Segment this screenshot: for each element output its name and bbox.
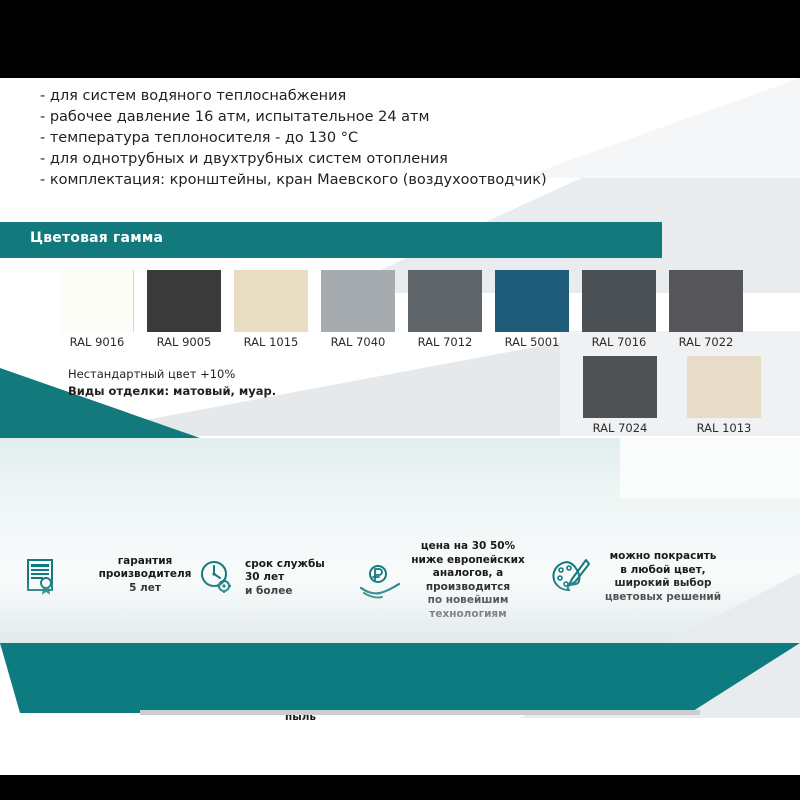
spec-bullet: - рабочее давление 16 атм, испытательное… <box>40 107 660 128</box>
color-swatch[interactable]: RAL 5001 <box>495 270 572 349</box>
color-swatch-label: RAL 7024 <box>580 421 660 435</box>
color-swatch[interactable]: RAL 7012 <box>408 270 485 349</box>
benefit-text-line: ниже европейских <box>408 554 528 568</box>
color-swatch-chip <box>583 356 657 418</box>
color-swatch-label: RAL 7040 <box>318 335 398 349</box>
color-swatch-chip <box>60 270 134 332</box>
spec-bullet: - для однотрубных и двухтрубных систем о… <box>40 149 660 170</box>
color-swatch-chip <box>687 356 761 418</box>
color-swatch-label: RAL 9005 <box>144 335 224 349</box>
slide-page: - для систем водяного теплоснабжения - р… <box>0 0 800 800</box>
color-swatch-label: RAL 7022 <box>666 335 746 349</box>
decorative-band-shadow <box>140 710 700 715</box>
palette-banner-title: Цветовая гамма <box>30 230 163 246</box>
benefit-text-line: срок службы <box>245 558 345 572</box>
palette-note-line2: Виды отделки: матовый, муар. <box>68 383 276 400</box>
spec-bullet: - температура теплоносителя - до 130 °C <box>40 128 660 149</box>
spec-bullet: - для систем водяного теплоснабжения <box>40 86 660 107</box>
color-swatch-label: RAL 7012 <box>405 335 485 349</box>
color-swatch[interactable]: RAL 1015 <box>234 270 311 349</box>
color-swatch-chip <box>408 270 482 332</box>
color-swatch[interactable]: RAL 9016 <box>60 270 137 349</box>
color-swatch[interactable]: RAL 9005 <box>147 270 224 349</box>
color-swatch-label: RAL 1015 <box>231 335 311 349</box>
color-swatch[interactable]: RAL 7024 <box>583 356 660 435</box>
color-swatch-chip <box>234 270 308 332</box>
color-swatch[interactable]: RAL 7016 <box>582 270 659 349</box>
benefit-text-line: можно покрасить <box>598 550 728 564</box>
color-swatch-chip <box>582 270 656 332</box>
benefit-text-line: цена на 30 50% <box>408 540 528 554</box>
color-swatch[interactable]: RAL 1013 <box>687 356 764 435</box>
spec-bullet-list: - для систем водяного теплоснабжения - р… <box>40 86 660 191</box>
color-swatch-label: RAL 7016 <box>579 335 659 349</box>
benefits-panel-highlight <box>620 438 800 498</box>
color-swatch[interactable]: RAL 7040 <box>321 270 398 349</box>
color-swatch-chip <box>321 270 395 332</box>
spec-bullet: - комплектация: кронштейны, кран Маевско… <box>40 170 660 191</box>
color-swatch-label: RAL 1013 <box>684 421 764 435</box>
color-swatch[interactable]: RAL 7022 <box>669 270 746 349</box>
benefit-text-line: в любой цвет, <box>598 564 728 578</box>
color-swatch-label: RAL 9016 <box>57 335 137 349</box>
palette-note-line1: Нестандартный цвет +10% <box>68 366 276 383</box>
color-swatch-chip <box>147 270 221 332</box>
decorative-bottom-band <box>0 643 800 713</box>
palette-note: Нестандартный цвет +10% Виды отделки: ма… <box>68 366 276 400</box>
color-swatch-chip <box>495 270 569 332</box>
slide-content: - для систем водяного теплоснабжения - р… <box>0 78 800 775</box>
color-swatch-label: RAL 5001 <box>492 335 572 349</box>
color-swatch-chip <box>669 270 743 332</box>
